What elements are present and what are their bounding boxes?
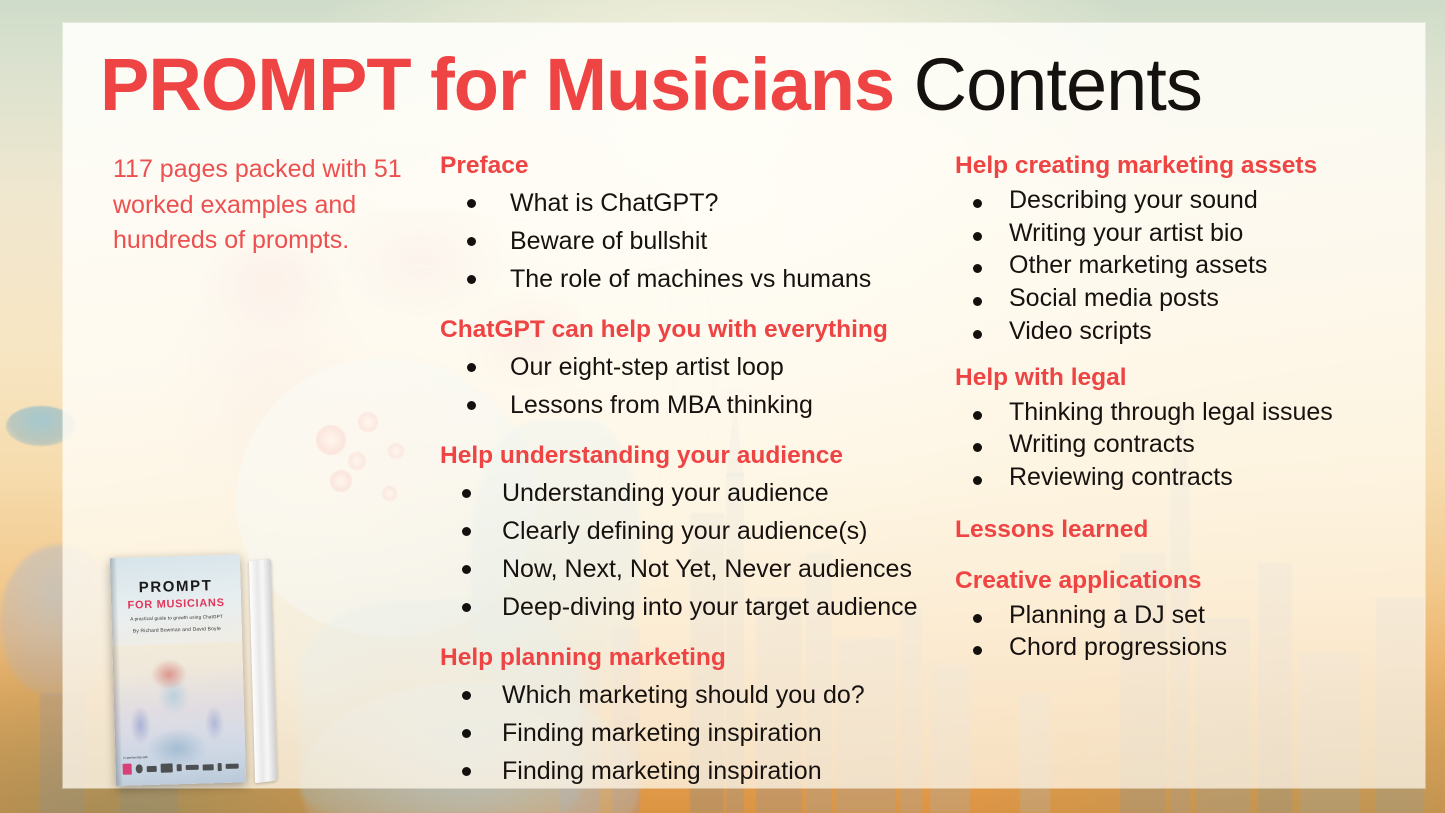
- list-item[interactable]: Our eight-step artist loop: [440, 348, 940, 386]
- toc-section-creative-applications: Creative applications Planning a DJ set …: [955, 567, 1385, 664]
- list-item[interactable]: Beware of bullshit: [440, 222, 940, 260]
- list-item[interactable]: Writing your artist bio: [955, 217, 1385, 250]
- list-item[interactable]: Video scripts: [955, 315, 1385, 348]
- partner-logo: [135, 764, 142, 773]
- toc-column-right: Help creating marketing assets Describin…: [955, 152, 1385, 664]
- book-title: PROMPT: [110, 576, 240, 597]
- section-items: Planning a DJ set Chord progressions: [955, 599, 1385, 665]
- toc-section-planning-marketing: Help planning marketing Which marketing …: [440, 644, 940, 790]
- list-item[interactable]: What is ChatGPT?: [440, 184, 940, 222]
- list-item[interactable]: Chord progressions: [955, 631, 1385, 664]
- section-items: What is ChatGPT? Beware of bullshit The …: [440, 184, 940, 298]
- blurb-text: 117 pages packed with 51 worked examples…: [113, 152, 423, 259]
- section-items: Understanding your audience Clearly defi…: [440, 474, 940, 626]
- partner-logo: [161, 763, 172, 772]
- list-item[interactable]: Thinking through legal issues: [955, 396, 1385, 429]
- list-item[interactable]: Now, Next, Not Yet, Never audiences: [440, 550, 940, 588]
- section-heading: Help creating marketing assets: [955, 152, 1385, 181]
- book-tagline: A practical guide to growth using ChatGP…: [111, 613, 241, 622]
- list-item[interactable]: Reviewing contracts: [955, 461, 1385, 494]
- toc-section-preface: Preface What is ChatGPT? Beware of bulls…: [440, 152, 940, 298]
- section-heading: Creative applications: [955, 567, 1385, 596]
- section-heading: Preface: [440, 152, 940, 181]
- list-item[interactable]: Finding marketing inspiration: [440, 714, 940, 752]
- list-item[interactable]: Describing your sound: [955, 184, 1385, 217]
- section-items: Which marketing should you do? Finding m…: [440, 676, 940, 790]
- title-brand: PROMPT for Musicians: [100, 43, 894, 126]
- page-title: PROMPT for Musicians Contents: [100, 48, 1202, 122]
- slide: PROMPT for Musicians Contents 117 pages …: [0, 0, 1445, 813]
- slide-content: PROMPT for Musicians Contents 117 pages …: [0, 0, 1445, 813]
- book-front-cover: PROMPT FOR MUSICIANS A practical guide t…: [110, 554, 246, 786]
- partner-logo: [123, 764, 132, 775]
- book-partner-logos: [123, 760, 239, 776]
- section-heading: Help planning marketing: [440, 644, 940, 673]
- toc-column-middle: Preface What is ChatGPT? Beware of bulls…: [440, 152, 940, 790]
- section-heading: Help understanding your audience: [440, 442, 940, 471]
- section-heading: Lessons learned: [955, 516, 1385, 545]
- partner-logo: [226, 764, 239, 769]
- toc-section-lessons-learned: Lessons learned: [955, 516, 1385, 545]
- toc-section-chatgpt-everything: ChatGPT can help you with everything Our…: [440, 316, 940, 424]
- partner-logo: [176, 764, 182, 771]
- partner-logo: [203, 764, 214, 770]
- list-item[interactable]: Social media posts: [955, 282, 1385, 315]
- section-heading: Help with legal: [955, 364, 1385, 393]
- partner-logo: [186, 765, 199, 770]
- toc-section-understanding-audience: Help understanding your audience Underst…: [440, 442, 940, 626]
- book-pages: [249, 559, 277, 783]
- list-item[interactable]: Understanding your audience: [440, 474, 940, 512]
- book-cover-image: PROMPT FOR MUSICIANS A practical guide t…: [110, 554, 261, 788]
- toc-section-marketing-assets: Help creating marketing assets Describin…: [955, 152, 1385, 348]
- list-item[interactable]: Writing contracts: [955, 428, 1385, 461]
- list-item[interactable]: Lessons from MBA thinking: [440, 386, 940, 424]
- list-item[interactable]: The role of machines vs humans: [440, 260, 940, 298]
- book-cover-artwork: [112, 642, 245, 768]
- partner-logo: [218, 763, 222, 771]
- title-contents: Contents: [914, 43, 1202, 126]
- toc-section-legal: Help with legal Thinking through legal i…: [955, 364, 1385, 494]
- list-item[interactable]: Which marketing should you do?: [440, 676, 940, 714]
- book-authors: By Richard Bowman and David Boyle: [112, 625, 242, 635]
- list-item[interactable]: Clearly defining your audience(s): [440, 512, 940, 550]
- list-item[interactable]: Other marketing assets: [955, 249, 1385, 282]
- section-heading: ChatGPT can help you with everything: [440, 316, 940, 345]
- partner-logo: [147, 765, 158, 771]
- section-items: Describing your sound Writing your artis…: [955, 184, 1385, 348]
- list-item[interactable]: Finding marketing inspiration: [440, 752, 940, 790]
- list-item[interactable]: Deep-diving into your target audience: [440, 588, 940, 626]
- list-item[interactable]: Planning a DJ set: [955, 599, 1385, 632]
- section-items: Thinking through legal issues Writing co…: [955, 396, 1385, 494]
- book-subtitle: FOR MUSICIANS: [111, 596, 241, 612]
- section-items: Our eight-step artist loop Lessons from …: [440, 348, 940, 424]
- book-partners-label: In partnership with: [123, 755, 148, 760]
